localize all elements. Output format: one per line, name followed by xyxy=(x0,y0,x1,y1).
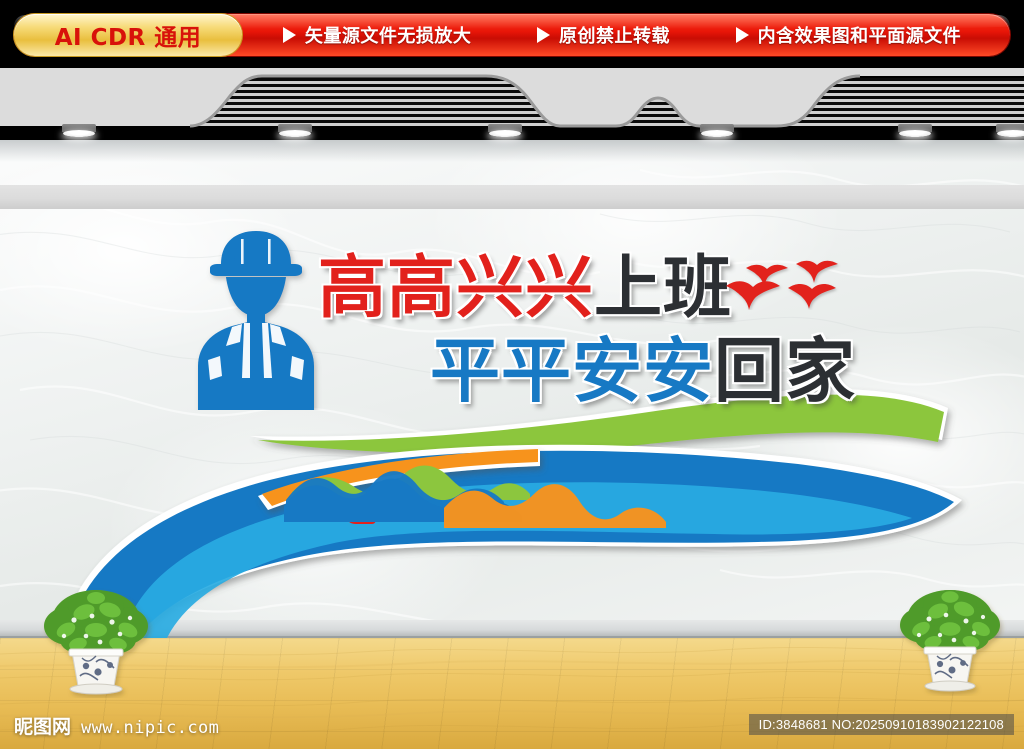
ceiling-downlight xyxy=(996,124,1024,137)
watermark-url: www.nipic.com xyxy=(81,718,219,738)
ceiling-downlight xyxy=(62,124,96,137)
promo-banner: AI CDR 通用 矢量源文件无损放大 原创禁止转载 内含效果图和平面源文件 xyxy=(0,0,1024,68)
promo-badge-label: AI CDR 通用 xyxy=(55,18,202,52)
promo-item-label: 原创禁止转载 xyxy=(559,22,670,48)
promo-item-label: 矢量源文件无损放大 xyxy=(305,22,472,48)
promo-item-list: 矢量源文件无损放大 原创禁止转载 内含效果图和平面源文件 xyxy=(250,14,994,56)
promo-item: 矢量源文件无损放大 xyxy=(283,22,472,48)
promo-badge: AI CDR 通用 xyxy=(14,14,242,56)
image-id-tag: ID:3848681 NO:20250910183902122108 xyxy=(749,714,1014,735)
watermark-site-name: 昵图网 xyxy=(14,712,71,739)
mountain-graphics xyxy=(0,140,1024,638)
screenshot-stage: 高高兴兴 上班 平平安安 回家 xyxy=(0,0,1024,749)
ceiling-downlight xyxy=(278,124,312,137)
play-triangle-icon xyxy=(736,27,749,43)
potted-plant-left xyxy=(34,586,158,698)
ceiling-downlight xyxy=(898,124,932,137)
play-triangle-icon xyxy=(537,27,550,43)
promo-item: 原创禁止转载 xyxy=(537,22,670,48)
ceiling-downlight xyxy=(488,124,522,137)
potted-plant-right xyxy=(890,586,1010,696)
ceiling-downlight xyxy=(700,124,734,137)
ceiling-soffit xyxy=(0,185,1024,209)
wall-art-composition: 高高兴兴 上班 平平安安 回家 xyxy=(0,140,1024,638)
play-triangle-icon xyxy=(283,27,296,43)
promo-item-label: 内含效果图和平面源文件 xyxy=(758,22,962,48)
watermark: 昵图网 www.nipic.com xyxy=(14,712,219,739)
promo-pill: AI CDR 通用 矢量源文件无损放大 原创禁止转载 内含效果图和平面源文件 xyxy=(14,14,1010,56)
promo-item: 内含效果图和平面源文件 xyxy=(736,22,962,48)
